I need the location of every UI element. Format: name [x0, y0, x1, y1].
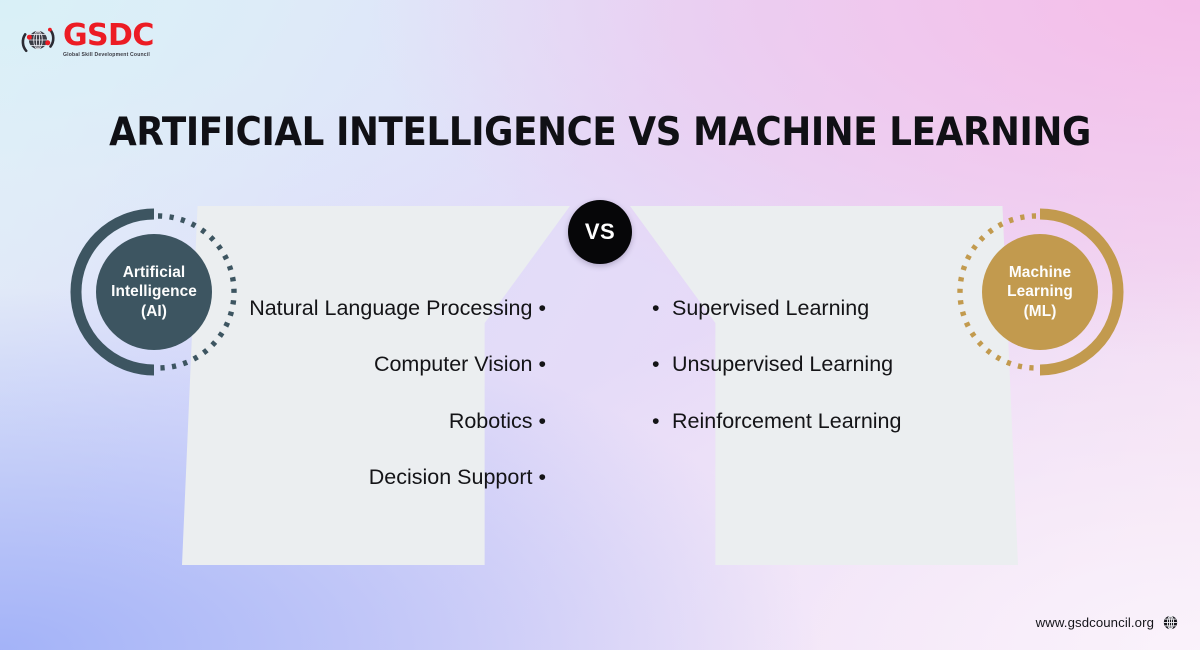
- list-item-label: Supervised Learning: [672, 296, 869, 320]
- badge-label-line3: (AI): [66, 302, 242, 321]
- list-item-label: Computer Vision: [374, 352, 533, 376]
- badge-label-line1: Machine: [952, 263, 1128, 282]
- list-item-label: Decision Support: [369, 465, 533, 489]
- bullet-icon: •: [538, 352, 546, 376]
- bullet-icon: •: [652, 407, 660, 435]
- globe-network-icon: [20, 22, 56, 58]
- list-item: Robotics •: [210, 407, 550, 435]
- ml-feature-list: •Supervised Learning •Unsupervised Learn…: [650, 206, 990, 565]
- list-item-label: Reinforcement Learning: [672, 409, 901, 433]
- logo-wordmark: GSDC: [63, 22, 154, 50]
- list-item-label: Robotics: [449, 409, 533, 433]
- vs-badge: VS: [568, 200, 632, 264]
- bullet-icon: •: [538, 296, 546, 320]
- list-item: •Reinforcement Learning: [650, 407, 990, 435]
- list-item: Natural Language Processing •: [210, 294, 550, 322]
- badge-label-line3: (ML): [952, 302, 1128, 321]
- bullet-icon: •: [538, 465, 546, 489]
- list-item-label: Natural Language Processing: [249, 296, 532, 320]
- badge-label-line1: Artificial: [66, 263, 242, 282]
- globe-icon: [1163, 615, 1178, 630]
- list-item: •Unsupervised Learning: [650, 350, 990, 378]
- website-url[interactable]: www.gsdcouncil.org: [1036, 615, 1154, 630]
- list-item: Computer Vision •: [210, 350, 550, 378]
- badge-label: Artificial Intelligence (AI): [66, 263, 242, 321]
- artificial-intelligence-badge: Artificial Intelligence (AI): [66, 204, 242, 380]
- logo-tagline: Global Skill Development Council: [63, 52, 154, 58]
- bullet-icon: •: [652, 294, 660, 322]
- list-item: •Supervised Learning: [650, 294, 990, 322]
- gsdc-logo: GSDC Global Skill Development Council: [20, 22, 154, 58]
- footer: www.gsdcouncil.org: [1036, 615, 1178, 630]
- ai-feature-list: Natural Language Processing • Computer V…: [210, 206, 550, 565]
- machine-learning-badge: Machine Learning (ML): [952, 204, 1128, 380]
- bullet-icon: •: [538, 409, 546, 433]
- badge-label: Machine Learning (ML): [952, 263, 1128, 321]
- badge-label-line2: Intelligence: [66, 282, 242, 301]
- badge-label-line2: Learning: [952, 282, 1128, 301]
- list-item: Decision Support •: [210, 463, 550, 491]
- bullet-icon: •: [652, 350, 660, 378]
- list-item-label: Unsupervised Learning: [672, 352, 893, 376]
- page-title: ARTIFICIAL INTELLIGENCE VS MACHINE LEARN…: [51, 110, 1149, 155]
- vs-label: VS: [585, 219, 615, 245]
